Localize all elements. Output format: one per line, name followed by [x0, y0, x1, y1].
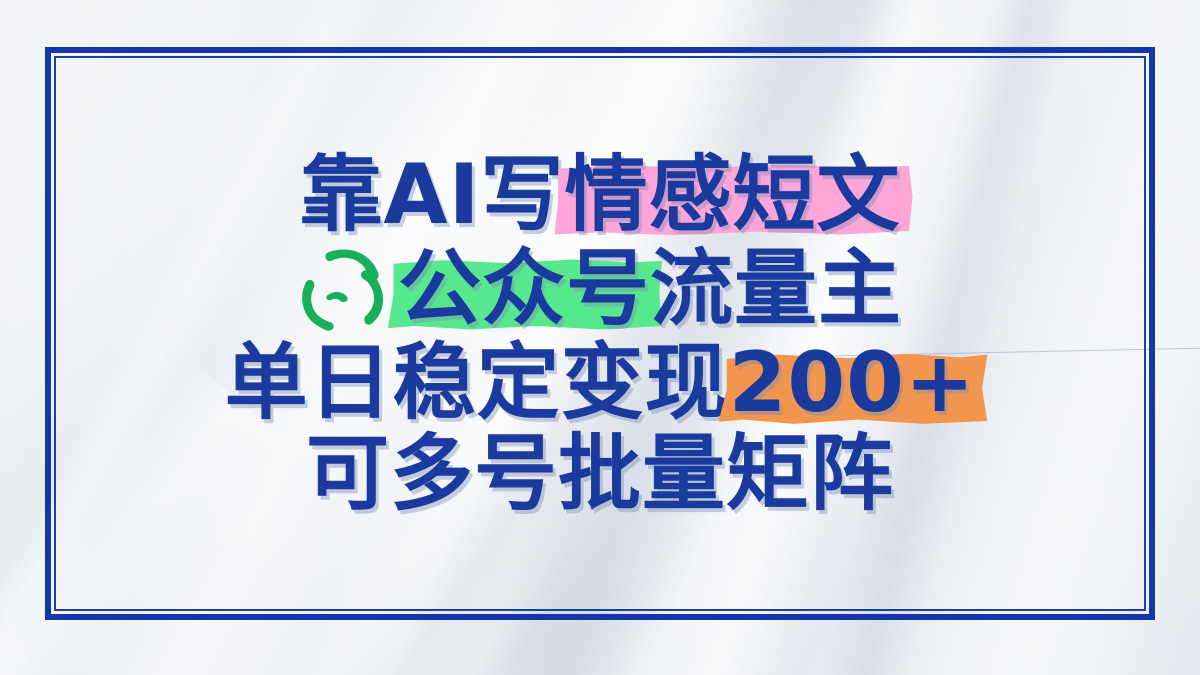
promo-poster: 靠AI写 情感短文 公众号 流量主 单日稳定变现: [0, 0, 1200, 675]
headline-line-2-highlighted-text: 公众号: [398, 247, 650, 332]
headline-line-3: 单日稳定变现 200+: [225, 341, 976, 426]
headline-line-3-highlighted-amount: 200+: [729, 341, 976, 426]
headline-line-4-plain-text: 可多号批量矩阵: [306, 432, 894, 517]
headline-line-1: 靠AI写 情感短文: [299, 153, 900, 238]
headline-block: 靠AI写 情感短文 公众号 流量主 单日稳定变现: [70, 62, 1130, 607]
headline-line-1-highlighted-text: 情感短文: [565, 153, 901, 238]
headline-line-2: 公众号 流量主: [298, 243, 902, 335]
headline-line-4: 可多号批量矩阵: [306, 432, 894, 517]
headline-line-1-plain-text: 靠AI写: [299, 153, 564, 238]
headline-line-2-plain-text: 流量主: [650, 247, 902, 332]
headline-line-3-plain-text: 单日稳定变现: [225, 341, 729, 426]
recycle-icon: [298, 243, 390, 335]
